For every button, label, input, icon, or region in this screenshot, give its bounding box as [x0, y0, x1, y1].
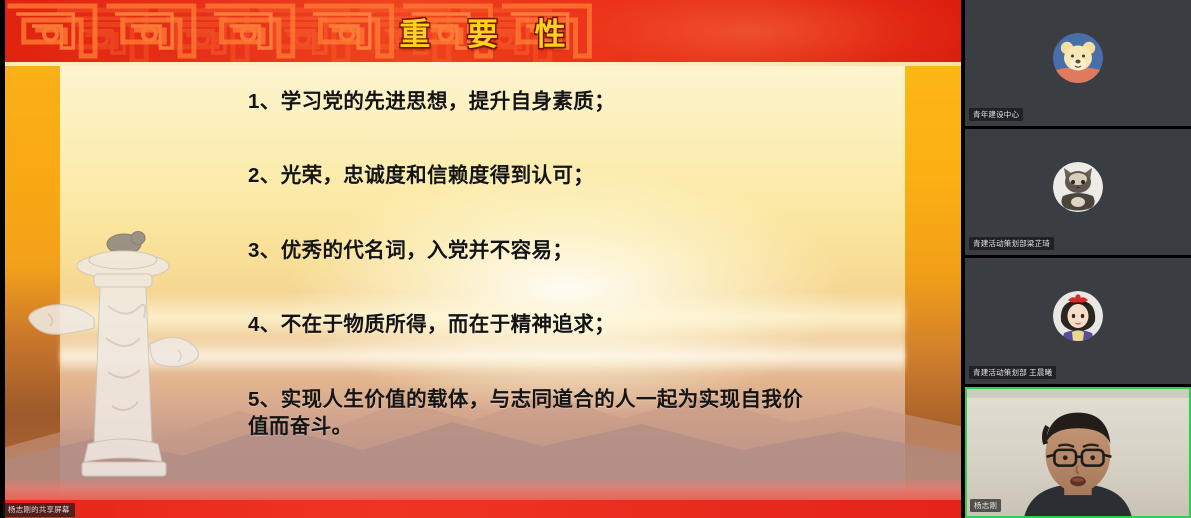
participant-name: 青建活动策划部梁芷琦	[969, 237, 1054, 250]
participant-strip: 青年建设中心 青建活动策划部梁芷琦	[965, 0, 1191, 518]
participant-tile[interactable]: 青年建设中心	[965, 0, 1191, 129]
meeting-screen: 重 要 性	[0, 0, 1191, 518]
bullet-item-3: 3、优秀的代名词，入党并不容易；	[248, 237, 848, 264]
participant-tile[interactable]: 青建活动策划部梁芷琦	[965, 129, 1191, 258]
bullet-item-2: 2、光荣，忠诚度和信赖度得到认可；	[248, 162, 848, 189]
bottom-haze	[4, 478, 961, 500]
cat-avatar-icon	[1053, 162, 1103, 212]
letterbox-left	[0, 0, 5, 518]
participant-tile-active-speaker[interactable]: 杨志刚	[965, 387, 1191, 518]
letterbox-right	[961, 0, 965, 518]
huabiao-column-illustration	[28, 222, 218, 482]
participant-tile[interactable]: 青建活动策划部 王晨曦	[965, 258, 1191, 387]
participant-name: 青建活动策划部 王晨曦	[969, 366, 1056, 379]
bullet-item-5: 5、实现人生价值的载体，与志同道合的人一起为实现自我价值而奋斗。	[248, 386, 818, 441]
slide-body: 1、学习党的先进思想，提升自身素质； 2、光荣，忠诚度和信赖度得到认可； 3、优…	[4, 66, 961, 500]
slide-bullet-list: 1、学习党的先进思想，提升自身素质； 2、光荣，忠诚度和信赖度得到认可； 3、优…	[248, 88, 848, 441]
bear-avatar-icon	[1053, 33, 1103, 83]
bullet-item-1: 1、学习党的先进思想，提升自身素质；	[248, 88, 848, 115]
participant-name: 杨志刚	[970, 499, 1001, 512]
header-divider	[4, 62, 961, 66]
slide-bottom-bar	[4, 500, 961, 518]
slide-title: 重 要 性	[4, 0, 961, 62]
share-indicator-label: 杨志刚的共享屏幕	[3, 503, 75, 517]
snowwhite-avatar-icon	[1053, 291, 1103, 341]
bullet-item-4: 4、不在于物质所得，而在于精神追求；	[248, 311, 848, 338]
presentation-slide: 重 要 性	[4, 0, 961, 518]
participant-name: 青年建设中心	[969, 108, 1023, 121]
shared-screen-region[interactable]: 重 要 性	[0, 0, 965, 518]
